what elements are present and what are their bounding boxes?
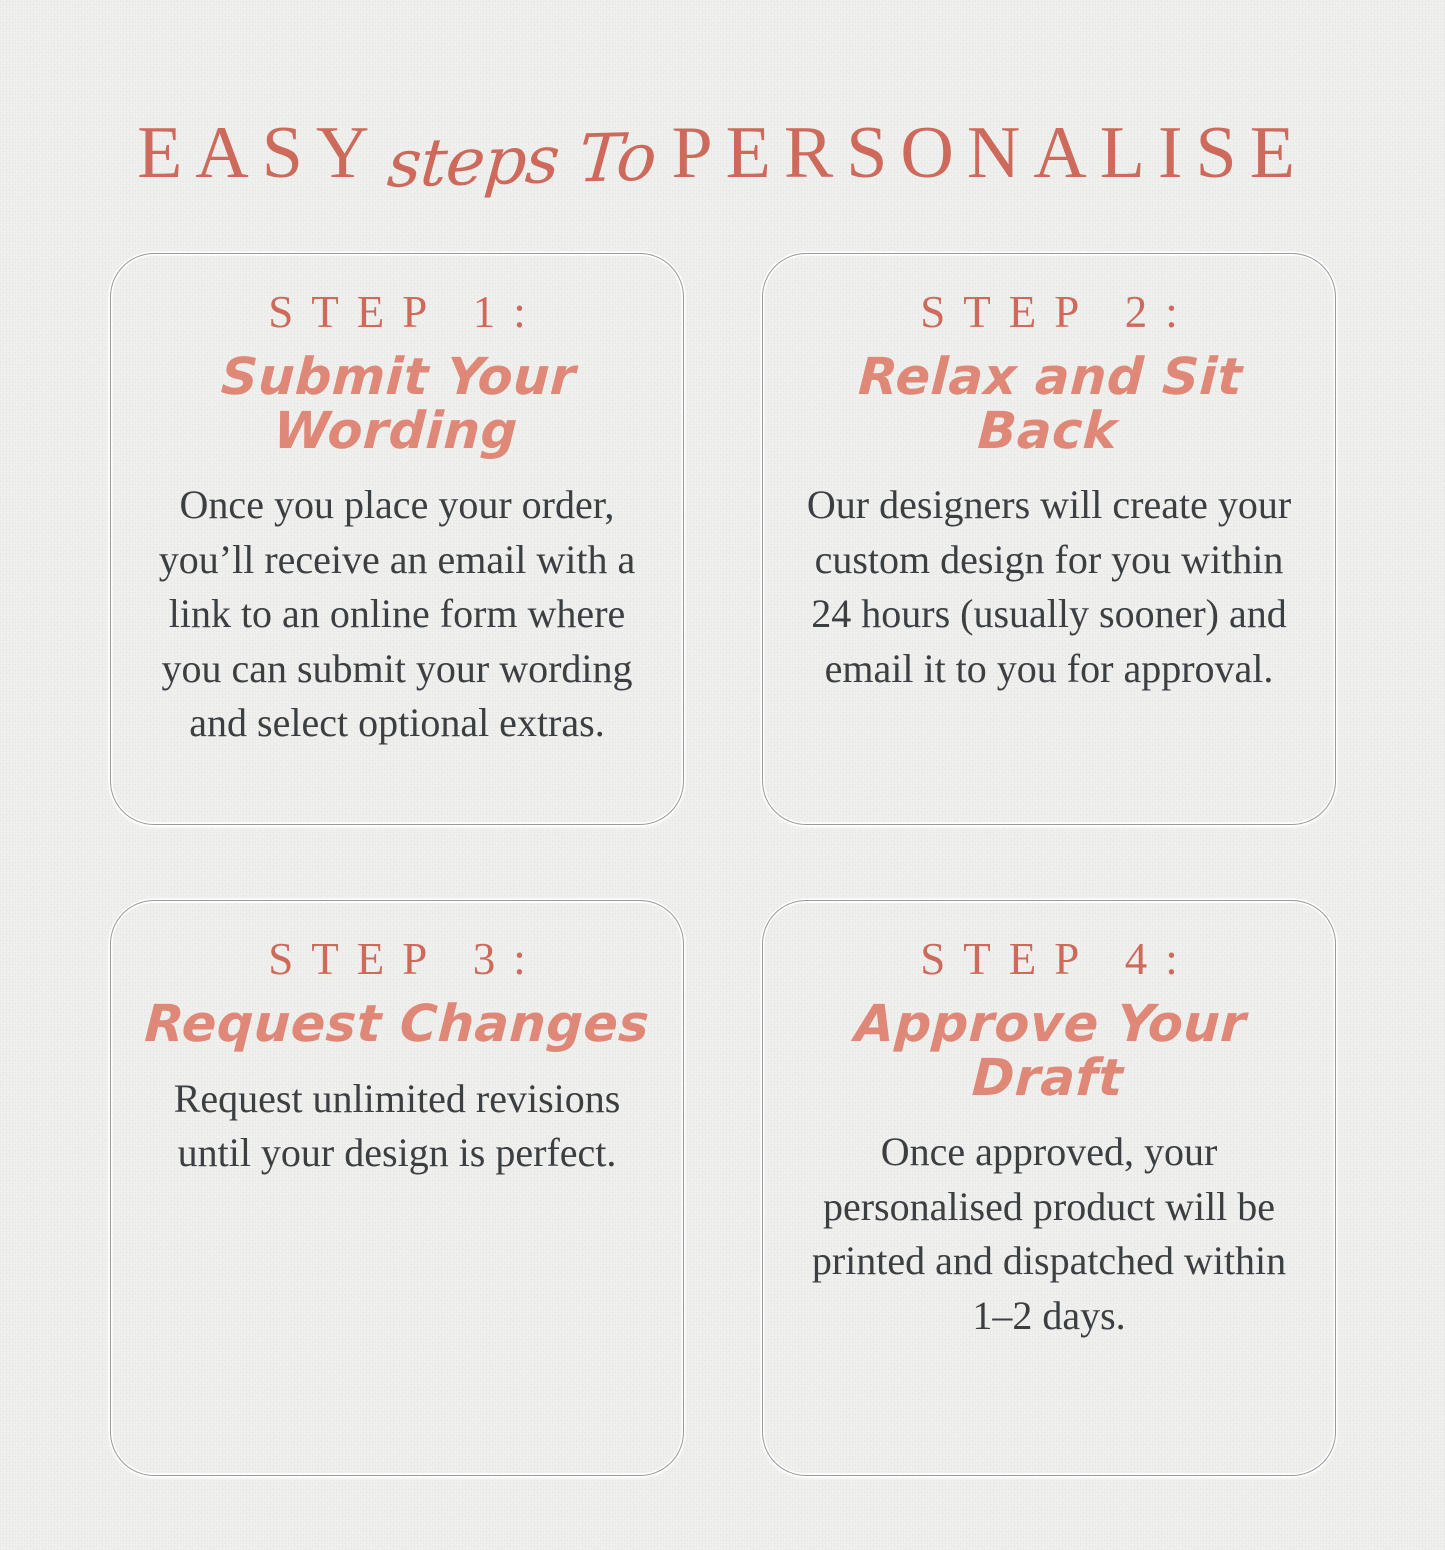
step-card-4-subtitle: Approve Your Draft xyxy=(789,998,1309,1105)
step-card-4-body: Once approved, your personalised product… xyxy=(792,1125,1306,1343)
step-card-1-label: STEP 1: xyxy=(140,287,654,337)
steps-card-grid: STEP 1: Submit Your Wording Once you pla… xyxy=(110,253,1336,1476)
step-card-2: STEP 2: Relax and Sit Back Our designers… xyxy=(762,253,1336,825)
step-card-3-content: STEP 3: Request Changes Request unlimite… xyxy=(140,934,654,1181)
step-card-1-subtitle: Submit Your Wording xyxy=(137,351,657,458)
step-card-1-body: Once you place your order, you’ll receiv… xyxy=(140,478,654,750)
page-title: EASYsteps ToPERSONALISE xyxy=(0,116,1445,190)
step-card-2-body: Our designers will create your custom de… xyxy=(792,478,1306,696)
personalisation-steps-infographic: EASYsteps ToPERSONALISE STEP 1: Submit Y… xyxy=(0,0,1445,1550)
step-card-1: STEP 1: Submit Your Wording Once you pla… xyxy=(110,253,684,825)
step-card-3-label: STEP 3: xyxy=(140,934,654,984)
page-title-word-personalise: PERSONALISE xyxy=(672,112,1308,194)
step-card-2-label: STEP 2: xyxy=(792,287,1306,337)
step-card-2-content: STEP 2: Relax and Sit Back Our designers… xyxy=(792,287,1306,696)
step-card-3-body: Request unlimited revisions until your d… xyxy=(140,1072,654,1181)
step-card-4: STEP 4: Approve Your Draft Once approved… xyxy=(762,900,1336,1476)
step-card-3-subtitle: Request Changes xyxy=(139,998,656,1052)
step-card-4-label: STEP 4: xyxy=(792,934,1306,984)
step-card-2-subtitle: Relax and Sit Back xyxy=(789,351,1309,458)
page-title-script-steps-to: steps To xyxy=(385,125,658,198)
step-card-1-content: STEP 1: Submit Your Wording Once you pla… xyxy=(140,287,654,750)
page-title-word-easy: EASY xyxy=(137,112,382,194)
step-card-3: STEP 3: Request Changes Request unlimite… xyxy=(110,900,684,1476)
step-card-4-content: STEP 4: Approve Your Draft Once approved… xyxy=(792,934,1306,1343)
